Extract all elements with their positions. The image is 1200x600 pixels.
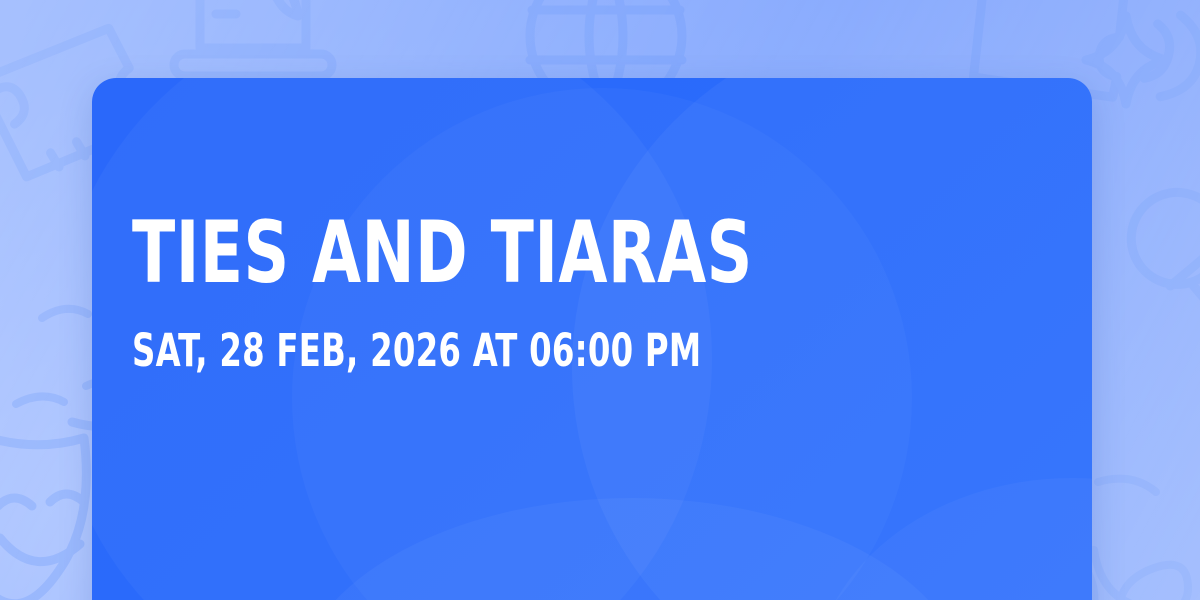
event-card[interactable]: Ties and Tiaras Sat, 28 Feb, 2026 at 06:…	[92, 78, 1092, 600]
microphone-icon	[1112, 174, 1200, 357]
laptop-icon	[174, 0, 332, 76]
event-date-time: Sat, 28 Feb, 2026 at 06:00 PM	[132, 328, 692, 373]
streamer-icon	[1094, 479, 1188, 600]
event-banner: Ties and Tiaras Sat, 28 Feb, 2026 at 06:…	[0, 0, 1200, 600]
event-title: Ties and Tiaras	[132, 213, 706, 295]
event-card-content: Ties and Tiaras Sat, 28 Feb, 2026 at 06:…	[132, 78, 832, 600]
